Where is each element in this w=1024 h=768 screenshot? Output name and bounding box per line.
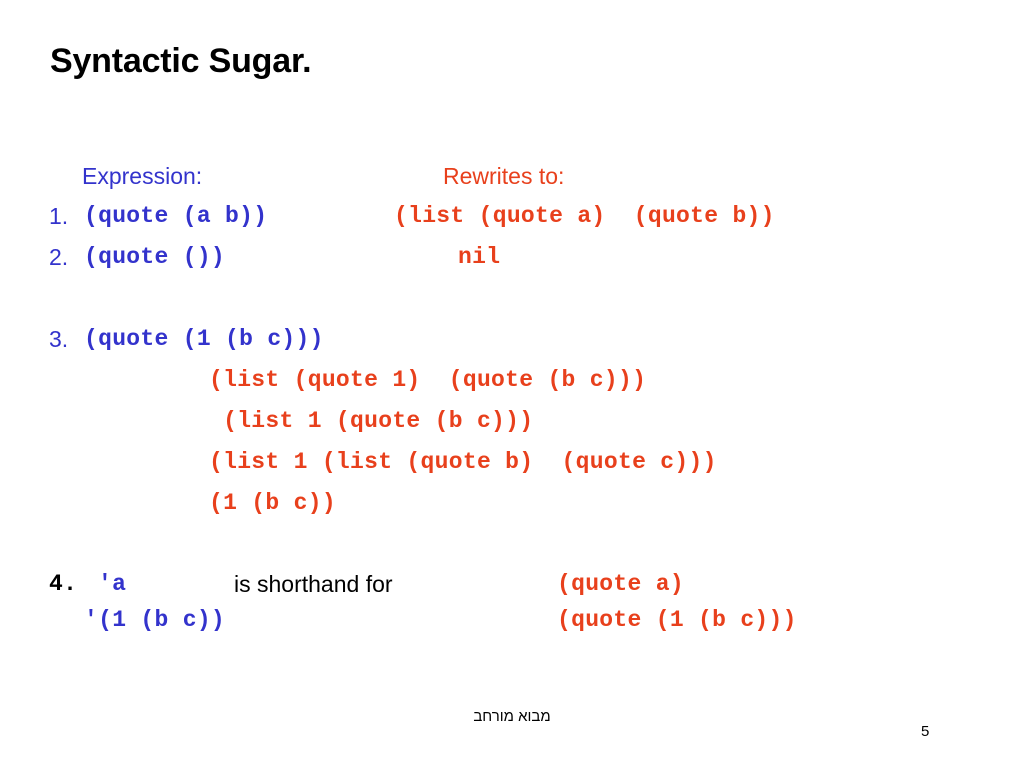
rewrite-2: nil: [458, 244, 500, 270]
expression-2: (quote ()): [84, 244, 225, 270]
shorthand-connector: is shorthand for: [234, 571, 393, 598]
footer-note: מבוא מורחב: [0, 708, 1024, 725]
page-title: Syntactic Sugar.: [50, 42, 311, 81]
rewrite-1: (list (quote a) (quote b)): [394, 203, 775, 229]
shorthand-long-1: (quote a): [557, 571, 684, 597]
page-number: 5: [921, 723, 929, 740]
expression-1: (quote (a b)): [84, 203, 267, 229]
row-number-3: 3.: [49, 326, 68, 353]
rewrite-3-step-2: (list 1 (quote (b c))): [209, 408, 533, 434]
slide: Syntactic Sugar. Expression: Rewrites to…: [0, 0, 1024, 768]
rewrite-3-step-4: (1 (b c)): [209, 490, 336, 516]
shorthand-long-2: (quote (1 (b c))): [557, 607, 797, 633]
column-header-expression: Expression:: [82, 163, 202, 190]
shorthand-short-2: '(1 (b c)): [84, 607, 225, 633]
expression-3: (quote (1 (b c))): [84, 326, 324, 352]
rewrite-3-step-1: (list (quote 1) (quote (b c))): [209, 367, 646, 393]
row-number-1: 1.: [49, 203, 68, 230]
row-number-4: 4.: [49, 571, 77, 597]
column-header-rewrites: Rewrites to:: [443, 163, 564, 190]
shorthand-short-1: 'a: [98, 571, 126, 597]
rewrite-3-step-3: (list 1 (list (quote b) (quote c))): [209, 449, 717, 475]
row-number-2: 2.: [49, 244, 68, 271]
